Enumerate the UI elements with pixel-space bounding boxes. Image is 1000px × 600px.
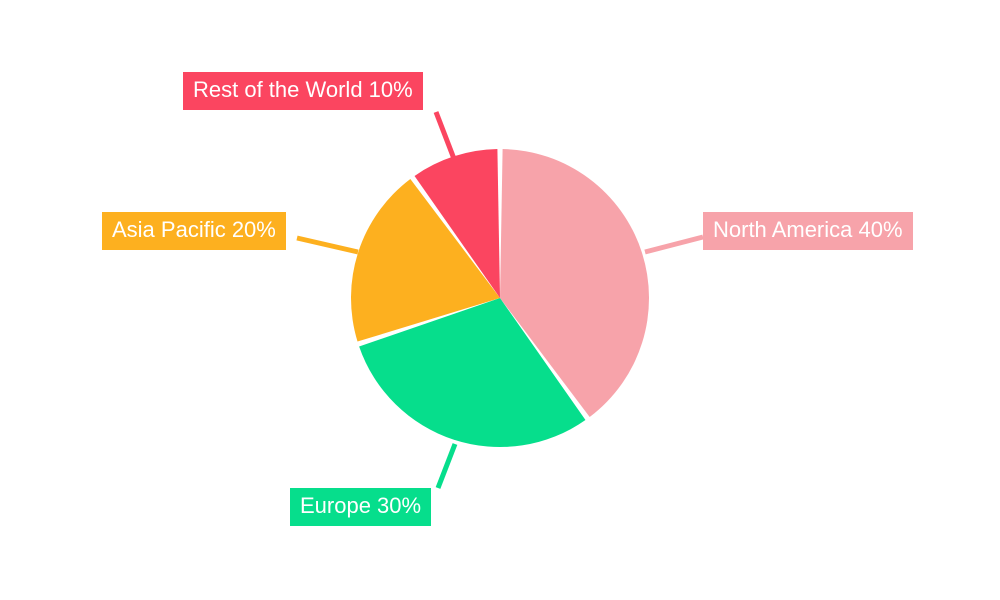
pie-label-asia-pacific-text: Asia Pacific 20%: [112, 218, 276, 242]
pie-label-asia-pacific[interactable]: Asia Pacific 20%: [102, 212, 286, 250]
pie-chart: North America 40% Europe 30% Asia Pacifi…: [0, 0, 1000, 600]
pie-slices: [351, 149, 649, 447]
leader-line-europe: [438, 444, 455, 488]
pie-label-north-america[interactable]: North America 40%: [703, 212, 913, 250]
leader-line-rest-of-the-world: [436, 112, 456, 164]
leader-line-north-america: [645, 237, 703, 252]
pie-label-rest-of-the-world-text: Rest of the World 10%: [193, 78, 413, 102]
pie-label-europe-text: Europe 30%: [300, 494, 421, 518]
pie-label-europe[interactable]: Europe 30%: [290, 488, 431, 526]
leader-line-asia-pacific: [297, 238, 358, 252]
pie-label-north-america-text: North America 40%: [713, 218, 903, 242]
pie-label-rest-of-the-world[interactable]: Rest of the World 10%: [183, 72, 423, 110]
pie-chart-canvas: [0, 0, 1000, 600]
